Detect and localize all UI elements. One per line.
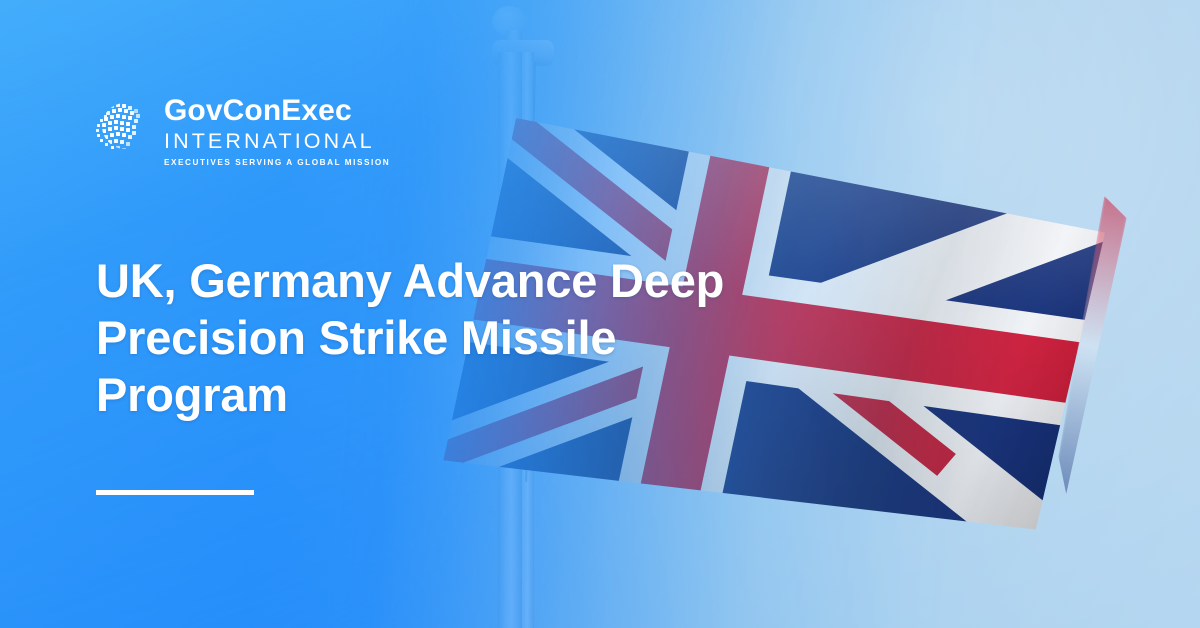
brand-logo[interactable]: GovConExec INTERNATIONAL EXECUTIVES SERV… (94, 96, 390, 167)
brand-name: GovConExec (164, 96, 390, 126)
brand-tagline: EXECUTIVES SERVING A GLOBAL MISSION (164, 159, 390, 167)
accent-rule (96, 490, 254, 495)
article-share-card: GovConExec INTERNATIONAL EXECUTIVES SERV… (0, 0, 1200, 628)
card-content: GovConExec INTERNATIONAL EXECUTIVES SERV… (0, 0, 1200, 628)
brand-subtitle: INTERNATIONAL (164, 131, 390, 153)
globe-halftone-icon (94, 98, 150, 156)
page-title: UK, Germany Advance Deep Precision Strik… (96, 252, 736, 423)
brand-logo-text: GovConExec INTERNATIONAL EXECUTIVES SERV… (164, 96, 390, 167)
